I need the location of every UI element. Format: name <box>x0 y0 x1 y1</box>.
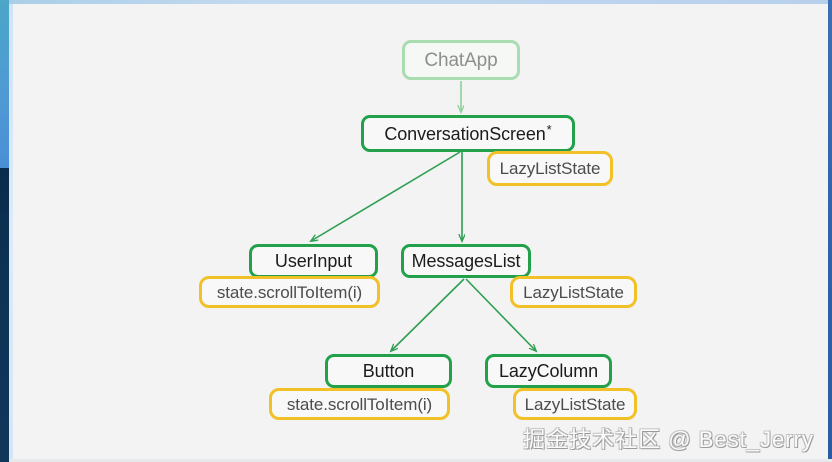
node-label: state.scrollToItem(i) <box>217 284 362 301</box>
diagram-canvas: ChatAppConversationScreen*LazyListStateU… <box>0 0 832 462</box>
node-state-userinput: state.scrollToItem(i) <box>199 276 380 308</box>
node-messageslist: MessagesList <box>401 244 531 278</box>
node-conversationscreen: ConversationScreen* <box>361 115 575 152</box>
node-label: LazyListState <box>525 396 626 413</box>
node-label: state.scrollToItem(i) <box>287 396 432 413</box>
node-label: MessagesList <box>412 252 521 270</box>
edge-messageslist-to-button <box>391 279 464 351</box>
node-state-messageslist: LazyListState <box>510 276 637 308</box>
node-label: Button <box>363 362 414 380</box>
node-userinput: UserInput <box>249 244 378 278</box>
watermark: 掘金技术社区 @ Best_Jerry <box>523 422 814 454</box>
node-button: Button <box>325 354 452 388</box>
node-lazycolumn: LazyColumn <box>485 354 612 388</box>
node-state-button: state.scrollToItem(i) <box>269 388 450 420</box>
node-label: ConversationScreen <box>384 125 545 143</box>
node-label: LazyListState <box>500 160 601 177</box>
node-state-lazycolumn: LazyListState <box>513 388 637 420</box>
node-label: LazyListState <box>523 284 624 301</box>
edge-conversationscreen-to-userinput <box>311 152 460 241</box>
node-label: UserInput <box>275 252 352 270</box>
node-state-conversationscreen: LazyListState <box>487 151 613 186</box>
node-chatapp: ChatApp <box>402 40 520 80</box>
node-label: ChatApp <box>424 51 497 70</box>
node-label: LazyColumn <box>499 362 598 380</box>
